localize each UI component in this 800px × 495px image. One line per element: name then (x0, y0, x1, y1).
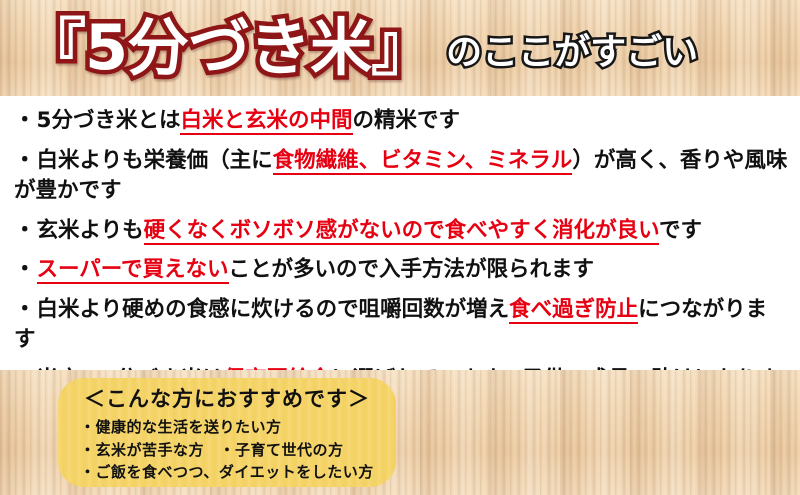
highlight-text: 食物繊維、ビタミン、ミネラル (273, 148, 573, 175)
bottom-panel: ＜こんな方におすすめです＞ ・健康的な生活を送りたい方 ・玄米が苦手な方 ・子育… (0, 370, 800, 495)
recommendation-list: ・健康的な生活を送りたい方 ・玄米が苦手な方 ・子育て世代の方 ・ご飯を食べつつ… (72, 416, 392, 484)
bullet-marker: ・ (14, 297, 36, 322)
recommendation-title: ＜こんな方におすすめです＞ (58, 383, 396, 413)
plain-text: 玄米よりも (37, 218, 144, 243)
plain-text: です (659, 218, 702, 243)
benefits-list: ・5分づき米とは白米と玄米の中間の精米です・白米よりも栄養価（主に食物繊維、ビタ… (0, 96, 800, 370)
page-title: 『5分づき米』 (24, 17, 432, 79)
highlight-text: 食べ過ぎ防止 (509, 297, 638, 324)
plain-text: の精米です (353, 108, 461, 133)
highlight-text: 白米と玄米の中間 (180, 108, 352, 135)
bullet-nutrition: ・白米よりも栄養価（主に食物繊維、ビタミン、ミネラル）が高く、香りや風味が豊かで… (14, 146, 788, 207)
bullet-definition: ・5分づき米とは白米と玄米の中間の精米です (14, 106, 788, 137)
plain-text: 白米よりも栄養価（主に (37, 148, 273, 173)
bullet-marker: ・ (14, 257, 36, 282)
bullet-texture: ・玄米よりも硬くなくボソボソ感がないので食べやすく消化が良いです (14, 216, 788, 247)
recommendation-card: ＜こんな方におすすめです＞ ・健康的な生活を送りたい方 ・玄米が苦手な方 ・子育… (58, 378, 396, 487)
header-inner: 『5分づき米』 のここがすごい (0, 0, 800, 96)
header-band: 『5分づき米』 のここがすごい (0, 0, 800, 96)
bullet-marker: ・ (14, 108, 36, 133)
list-item: ・玄米が苦手な方 ・子育て世代の方 (72, 439, 392, 462)
plain-text: ことが多いので入手方法が限られます (229, 257, 595, 282)
plain-text: 5分づき米とは (37, 108, 181, 133)
promo-page: 『5分づき米』 のここがすごい ・5分づき米とは白米と玄米の中間の精米です・白米… (0, 0, 800, 495)
bullet-marker: ・ (14, 218, 36, 243)
bullet-availability: ・スーパーで買えないことが多いので入手方法が限られます (14, 255, 788, 286)
page-subtitle: のここがすごい (446, 35, 698, 71)
highlight-text: 硬くなくボソボソ感がないので食べやすく消化が良い (144, 218, 659, 245)
plain-text: 白米より硬めの食感に炊けるので咀嚼回数が増え (37, 297, 510, 322)
list-item: ・ご飯を食べつつ、ダイエットをしたい方 (72, 461, 392, 484)
bullet-marker: ・ (14, 148, 36, 173)
highlight-text: スーパーで買えない (37, 257, 229, 284)
list-item: ・健康的な生活を送りたい方 (72, 416, 392, 439)
bullet-overeating: ・白米より硬めの食感に炊けるので咀嚼回数が増え食べ過ぎ防止につながります (14, 295, 788, 356)
